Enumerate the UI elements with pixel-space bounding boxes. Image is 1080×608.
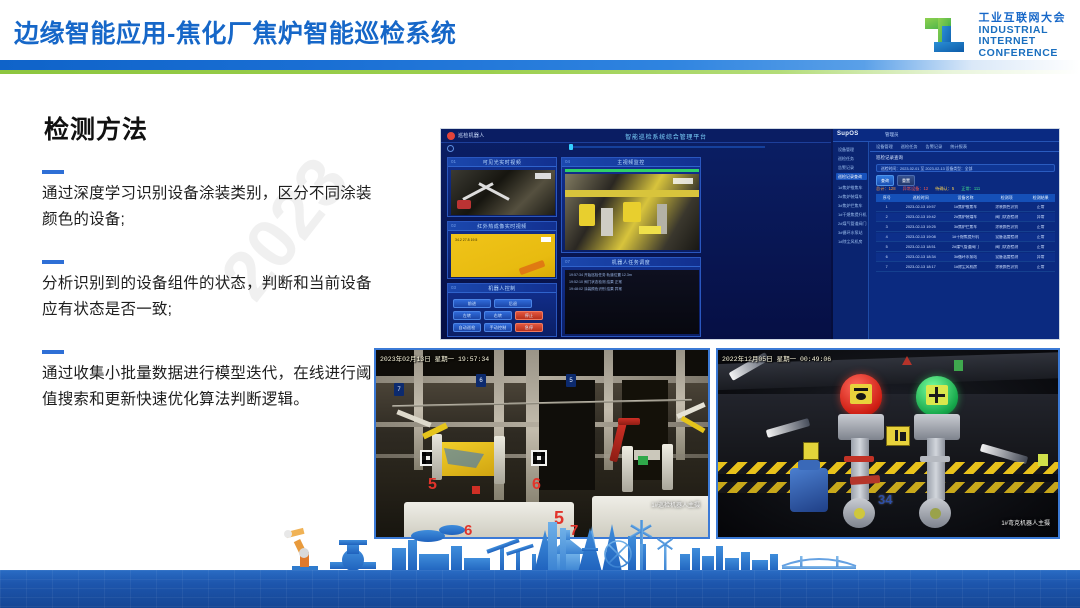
webapp-stats-row: 总计：128 异常设备：12 待确认：5 正常：111 <box>876 185 1055 192</box>
table-cell: 异常 <box>1026 215 1055 220</box>
dashboard-body: 巡检机器人 智能巡检系统综合管理平台 01 可见光实时视频 <box>441 129 1059 339</box>
sidebar-item-8[interactable]: 2#煤气管道阀门 <box>836 220 867 227</box>
footer-skyline-illustration <box>0 518 1080 578</box>
table-cell: 2023-02-13 19:42 <box>897 215 944 219</box>
crane-icon <box>486 538 536 572</box>
sidebar-item-6[interactable]: 3#焦炉拦焦车 <box>836 202 867 209</box>
red-actuator <box>840 374 882 416</box>
table-row[interactable]: 1 2023-02-13 19:57 1#焦炉推焦车 涂装颜色识别 正常 <box>876 203 1055 212</box>
panel-main-video: 04 主视频监控 <box>561 157 701 253</box>
marker-tag: 6 <box>476 374 486 387</box>
bullet-text: 通过深度学习识别设备涂装类别，区分不同涂装颜色的设备; <box>42 181 378 233</box>
table-header-cell: 检测项 <box>987 195 1026 201</box>
hazard-label <box>803 442 819 460</box>
panel-header: 01 可见光实时视频 <box>448 158 556 167</box>
marker-tag: 7 <box>394 383 404 396</box>
table-cell: 3 <box>876 225 897 229</box>
control-button[interactable]: 手动控制 <box>484 323 512 332</box>
table-header-cell: 设备名称 <box>944 195 987 201</box>
panel-header: 03 机器人控制 <box>448 284 556 293</box>
table-cell: 1 <box>876 205 897 209</box>
table-cell: 设备温度检测 <box>987 255 1026 260</box>
panel-robot-control: 03 机器人控制 前进 后退 左转 右转 停止 自动巡检 手动控制 急停 <box>447 283 557 337</box>
panel-title: 可见光实时视频 <box>483 159 522 166</box>
logo-text-en-3: CONFERENCE <box>979 48 1067 60</box>
table-cell: 2023-02-13 18:34 <box>897 255 944 259</box>
valve-icon <box>330 540 376 571</box>
table-cell: 正常 <box>1026 245 1055 250</box>
sidebar-item-2[interactable]: 告警记录 <box>836 164 867 171</box>
tab-1[interactable]: 巡检任务 <box>901 144 918 150</box>
sidebar-item-3-active[interactable]: 巡检记录查询 <box>836 173 867 180</box>
control-button-grid: 前进 后退 左转 右转 停止 自动巡检 手动控制 急停 <box>450 296 556 335</box>
dashboard-screenshot: 巡检机器人 智能巡检系统综合管理平台 01 可见光实时视频 <box>440 128 1060 340</box>
page-title: 边缘智能应用-焦化厂焦炉智能巡检系统 <box>14 14 456 50</box>
photo-left-content: 7 6 5 5 6 5 6 7 2023年02月13日 星期一 19:57:34… <box>376 350 708 537</box>
main-video-feed[interactable] <box>565 174 699 250</box>
painted-number: 6 <box>532 476 541 494</box>
valve-housing <box>914 414 960 440</box>
table-cell: 2023-02-13 19:08 <box>897 235 944 239</box>
factory-icon <box>392 525 490 572</box>
sidebar-item-9[interactable]: 3#循环水泵站 <box>836 229 867 236</box>
table-cell: 4 <box>876 235 897 239</box>
edge-marker <box>1038 454 1048 466</box>
webapp-sidebar: 设备管理 巡检任务 告警记录 巡检记录查询 1#焦炉推焦车 2#焦炉装煤车 3#… <box>833 142 869 339</box>
warning-sign <box>886 426 910 446</box>
footer-ground-band <box>0 570 1080 608</box>
panel-title: 机器人任务调度 <box>612 259 651 266</box>
dashboard-progress-track[interactable] <box>569 146 765 148</box>
table-row[interactable]: 4 2023-02-13 19:08 1#干熄焦提升机 设备温度检测 正常 <box>876 233 1055 242</box>
table-row[interactable]: 3 2023-02-13 19:25 3#焦炉拦焦车 涂装颜色识别 正常 <box>876 223 1055 232</box>
panel-index: 07 <box>565 259 570 264</box>
panel-title: 机器人控制 <box>488 285 516 292</box>
thermal-feed[interactable]: 34.2 27.8 19.5 <box>451 234 555 277</box>
blue-equipment <box>790 468 828 512</box>
bullet-item: 通过收集小批量数据进行模型迭代，在线进行阈值搜索和更新快速优化算法判断逻辑。 <box>42 350 378 413</box>
table-cell: 异常 <box>1026 255 1055 260</box>
video-status-bar <box>565 169 699 172</box>
panel-task-schedule: 07 机器人任务调度 19:57:34 开始巡检任务 轨道位置 12.3m 19… <box>561 257 701 337</box>
bullet-text: 分析识别到的设备组件的状态，判断和当前设备应有状态是否一致; <box>42 271 378 323</box>
industrial-internet-logo-icon <box>920 10 972 62</box>
table-cell: 阀门状态检测 <box>987 215 1026 220</box>
panel-header: 04 主视频监控 <box>562 158 700 167</box>
settings-gear-icon[interactable] <box>447 145 454 152</box>
webapp-topbar <box>833 129 1060 142</box>
control-button[interactable]: 左转 <box>453 311 481 320</box>
table-cell: 2#煤气管道阀门 <box>944 245 987 250</box>
table-row[interactable]: 7 2023-02-13 18:17 1#除尘风机房 涂装颜色识别 正常 <box>876 263 1055 272</box>
photo-caption: 1#弯克机器人主摄 <box>1001 518 1050 527</box>
qr-code-marker <box>531 450 547 466</box>
photo-right-content: 34 2022年12月05日 星期一 00:49:06 1#弯克机器人主摄 <box>718 350 1058 537</box>
panel-index: 02 <box>451 223 456 228</box>
photo-right-valves: 34 2022年12月05日 星期一 00:49:06 1#弯克机器人主摄 <box>716 348 1060 539</box>
panel-index: 01 <box>451 159 456 164</box>
tab-2[interactable]: 告警记录 <box>926 144 943 150</box>
table-cell: 正常 <box>1026 225 1055 230</box>
sidebar-item-1[interactable]: 巡检任务 <box>836 155 867 162</box>
status-dot-icon <box>447 132 455 140</box>
table-cell: 5 <box>876 245 897 249</box>
valve-stem <box>927 438 945 500</box>
conference-logo: 工业互联网大会 INDUSTRIAL INTERNET CONFERENCE <box>920 10 1067 62</box>
filter-label: 巡检时间：2023-02-01 至 2023-02-13 设备类型：全部 <box>881 167 972 172</box>
panel-index: 04 <box>565 159 570 164</box>
table-cell: 涂装颜色识别 <box>987 225 1026 230</box>
ceiling-marker <box>954 360 963 371</box>
header-divider-blue <box>0 60 1080 70</box>
ferris-wheel-icon <box>605 541 631 567</box>
dashboard-main-app: 巡检机器人 智能巡检系统综合管理平台 01 可见光实时视频 <box>441 129 831 339</box>
bullet-list: 通过深度学习识别设备涂装类别，区分不同涂装颜色的设备; 分析识别到的设备组件的状… <box>42 170 378 440</box>
task-log-area: 19:57:34 开始巡检任务 轨道位置 12.3m 19:52:10 阀门状态… <box>565 270 699 334</box>
table-cell: 2023-02-13 18:51 <box>897 245 944 249</box>
stat-total: 总计：128 <box>876 186 896 192</box>
panel-visible-video: 01 可见光实时视频 <box>447 157 557 217</box>
table-cell: 正常 <box>1026 265 1055 270</box>
table-row[interactable]: 6 2023-02-13 18:34 3#循环水泵站 设备温度检测 异常 <box>876 253 1055 262</box>
sidebar-item-10[interactable]: 1#除尘风机房 <box>836 238 867 245</box>
valve-housing <box>838 414 884 440</box>
valve-stem <box>851 438 869 500</box>
panel-thermal-video: 02 红外热成像实时视频 34.2 27.8 19.5 <box>447 221 557 279</box>
bullet-dash-icon <box>42 350 64 354</box>
sidebar-item-4[interactable]: 1#焦炉推焦车 <box>836 184 867 191</box>
control-button-emergency[interactable]: 急停 <box>515 323 543 332</box>
table-cell: 1#焦炉推焦车 <box>944 205 987 210</box>
table-cell: 2023-02-13 19:25 <box>897 225 944 229</box>
table-header-row: 序号 巡检时间 设备名称 检测项 检测结果 <box>876 194 1055 202</box>
table-cell: 3#循环水泵站 <box>944 255 987 260</box>
table-header-cell: 序号 <box>876 195 897 201</box>
sidebar-item-7[interactable]: 1#干熄焦提升机 <box>836 211 867 218</box>
table-cell: 涂装颜色识别 <box>987 265 1026 270</box>
control-button[interactable]: 后退 <box>494 299 532 308</box>
table-row[interactable]: 2 2023-02-13 19:42 2#焦炉装煤车 阀门状态检测 异常 <box>876 213 1055 222</box>
photo-caption: 1#巡检机器人主摄 <box>651 500 700 509</box>
table-cell: 6 <box>876 255 897 259</box>
photo-timestamp: 2022年12月05日 星期一 00:49:06 <box>722 353 831 363</box>
table-cell: 2023-02-13 19:57 <box>897 205 944 209</box>
city-blocks-icon <box>680 546 778 572</box>
control-button[interactable]: 前进 <box>453 299 491 308</box>
control-button[interactable]: 右转 <box>484 311 512 320</box>
table-cell: 涂装颜色识别 <box>987 205 1026 210</box>
sidebar-item-0[interactable]: 设备管理 <box>836 146 867 153</box>
photo-left-coke-oven: 7 6 5 5 6 5 6 7 2023年02月13日 星期一 19:57:34… <box>374 348 710 539</box>
table-cell: 1#干熄焦提升机 <box>944 235 987 240</box>
painted-number: 5 <box>428 476 437 494</box>
marker-tag: 5 <box>566 374 576 387</box>
webapp-breadcrumb: 巡检记录查询 <box>876 155 903 161</box>
table-cell: 设备温度检测 <box>987 235 1026 240</box>
webapp-tabs: 设备管理 巡检任务 告警记录 统计报表 <box>870 142 1060 152</box>
panel-index: 03 <box>451 285 456 290</box>
stat-abnormal: 异常设备：12 <box>903 186 929 192</box>
photo-timestamp: 2023年02月13日 星期一 19:57:34 <box>380 353 489 363</box>
dashboard-topbar-label: 巡检机器人 <box>458 132 485 139</box>
webapp-body: SupOS 管理员 设备管理 巡检任务 告警记录 巡检记录查询 1#焦炉推焦车 … <box>833 129 1060 339</box>
table-cell: 正常 <box>1026 235 1055 240</box>
bullet-item: 通过深度学习识别设备涂装类别，区分不同涂装颜色的设备; <box>42 170 378 233</box>
table-cell: 正常 <box>1026 205 1055 210</box>
green-actuator <box>916 376 958 416</box>
webapp-screenshot: SupOS 管理员 设备管理 巡检任务 告警记录 巡检记录查询 1#焦炉推焦车 … <box>833 129 1060 339</box>
stat-pending: 待确认：5 <box>935 186 954 192</box>
bullet-dash-icon <box>42 170 64 174</box>
dashboard-title: 智能巡检系统综合管理平台 <box>571 132 761 141</box>
bullet-item: 分析识别到的设备组件的状态，判断和当前设备应有状态是否一致; <box>42 260 378 323</box>
control-button-stop[interactable]: 停止 <box>515 311 543 320</box>
webapp-logo: SupOS <box>837 131 859 137</box>
panel-header: 02 红外热成像实时视频 <box>448 222 556 231</box>
control-button[interactable]: 自动巡检 <box>453 323 481 332</box>
wind-turbine-icon <box>630 520 673 572</box>
table-cell: 2#焦炉装煤车 <box>944 215 987 220</box>
table-cell: 阀门状态检测 <box>987 245 1026 250</box>
table-row[interactable]: 5 2023-02-13 18:51 2#煤气管道阀门 阀门状态检测 正常 <box>876 243 1055 252</box>
sidebar-item-5[interactable]: 2#焦炉装煤车 <box>836 193 867 200</box>
panel-title: 主视频监控 <box>617 159 645 166</box>
table-header-cell: 检测结果 <box>1026 195 1055 201</box>
table-header-cell: 巡检时间 <box>897 195 944 201</box>
section-heading: 检测方法 <box>44 110 148 146</box>
tab-3[interactable]: 统计报表 <box>950 144 967 150</box>
webapp-user[interactable]: 管理员 <box>885 132 899 138</box>
panel-title: 红外热成像实时视频 <box>477 223 527 230</box>
robot-arm-icon <box>284 528 318 572</box>
table-cell: 7 <box>876 265 897 269</box>
webapp-main: 设备管理 巡检任务 告警记录 统计报表 巡检记录查询 巡检时间：2023-02-… <box>870 142 1060 339</box>
table-cell: 1#除尘风机房 <box>944 265 987 270</box>
video-feed[interactable] <box>451 170 555 215</box>
table-cell: 3#焦炉拦焦车 <box>944 225 987 230</box>
logo-text-cn: 工业互联网大会 <box>979 12 1067 24</box>
table-cell: 2 <box>876 215 897 219</box>
stat-normal: 正常：111 <box>961 186 980 192</box>
webapp-filter-bar[interactable]: 巡检时间：2023-02-01 至 2023-02-13 设备类型：全部 <box>876 164 1055 172</box>
panel-header: 07 机器人任务调度 <box>562 258 700 267</box>
tab-0[interactable]: 设备管理 <box>876 144 893 150</box>
header-divider-green <box>0 70 1080 74</box>
bridge-icon <box>782 556 856 569</box>
bullet-text: 通过收集小批量数据进行模型迭代，在线进行阈值搜索和更新快速优化算法判断逻辑。 <box>42 361 378 413</box>
hazard-stripe <box>718 462 1060 474</box>
bullet-dash-icon <box>42 260 64 264</box>
table-cell: 2023-02-13 18:17 <box>897 265 944 269</box>
painted-number: 34 <box>878 492 892 507</box>
